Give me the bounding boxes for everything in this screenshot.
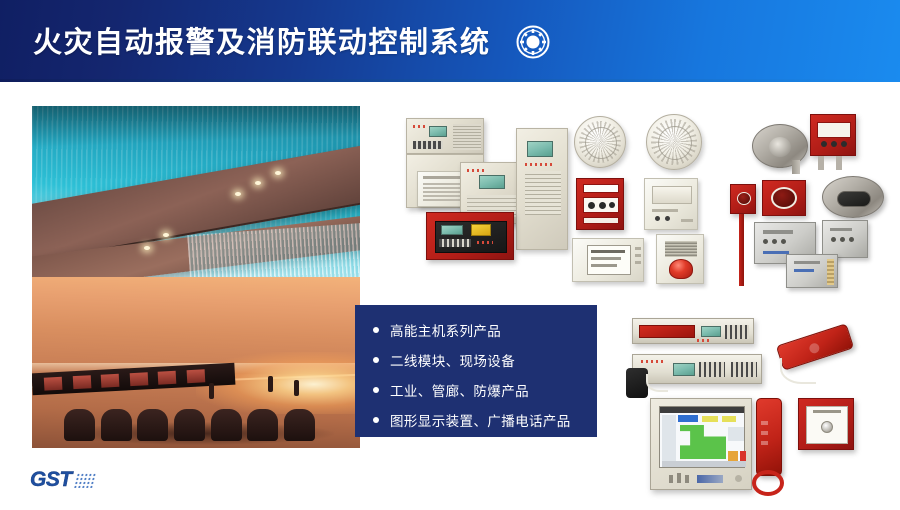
broadcast-rack-unit	[632, 318, 754, 344]
bullet-dot-icon	[373, 327, 379, 333]
red-handset-phone	[756, 398, 782, 476]
product-bullet-panel: 高能主机系列产品 二线模块、现场设备 工业、管廊、防爆产品 图形显示装置、广播电…	[355, 305, 597, 437]
red-manual-station	[762, 180, 806, 216]
smoke-detector	[574, 116, 626, 168]
downlight	[235, 192, 241, 196]
input-output-module	[644, 178, 698, 230]
list-item: 高能主机系列产品	[373, 315, 597, 345]
telephone-cord	[780, 358, 816, 384]
station-pole	[739, 214, 744, 286]
mall-floor-level	[32, 277, 360, 448]
gst-logo-text: GST	[30, 468, 72, 492]
list-item: 工业、管廊、防爆产品	[373, 375, 597, 405]
heat-detector	[646, 114, 702, 170]
cluster-host-panels	[398, 110, 588, 280]
terminal-box	[786, 254, 838, 288]
downlight	[275, 171, 281, 175]
list-item: 图形显示装置、广播电话产品	[373, 405, 597, 435]
mall-interior-photo	[32, 106, 360, 448]
annunciator-module	[572, 238, 644, 282]
red-fire-alarm-panel	[426, 212, 514, 260]
header-bar: 火灾自动报警及消防联动控制系统	[0, 0, 900, 82]
downlight	[144, 246, 150, 250]
bullet-dot-icon	[373, 387, 379, 393]
floor-standing-cabinet	[516, 128, 568, 250]
bullet-label: 二线模块、现场设备	[390, 350, 515, 370]
sounder-strobe	[656, 234, 704, 284]
microphone-cord	[646, 374, 668, 392]
terminal-brand-mark	[697, 475, 723, 483]
floor-sculpture-group	[58, 397, 340, 441]
shopper-figure	[268, 376, 273, 392]
bullet-dot-icon	[373, 357, 379, 363]
explosion-proof-call-point	[810, 114, 856, 156]
linear-heat-pull-station	[730, 184, 756, 214]
explosion-proof-flame-detector	[822, 176, 884, 218]
manual-call-point	[576, 178, 624, 230]
graphic-display-terminal	[650, 398, 752, 490]
terminal-screen	[659, 406, 745, 468]
handset-cradle	[752, 470, 784, 496]
bullet-label: 工业、管廊、防爆产品	[390, 380, 529, 400]
junction-box-small	[822, 220, 868, 258]
strobe-lens	[669, 259, 693, 279]
telephone-jack-station	[798, 398, 854, 450]
slide-root: 火灾自动报警及消防联动控制系统	[0, 0, 900, 510]
page-title: 火灾自动报警及消防联动控制系统	[33, 19, 491, 61]
bullet-label: 高能主机系列产品	[390, 320, 501, 340]
wall-mount-control-panel	[406, 118, 484, 154]
cluster-display-broadcast-telephone	[630, 318, 900, 503]
cluster-field-devices	[568, 112, 738, 280]
rack-microphone	[626, 368, 648, 398]
cluster-industrial-explosion-proof	[736, 108, 900, 288]
gst-logo-dots-icon	[73, 473, 97, 488]
gst-logo: GST	[30, 468, 95, 492]
bullet-dot-icon	[373, 417, 379, 423]
list-item: 二线模块、现场设备	[373, 345, 597, 375]
smoke-detector-icon	[516, 25, 550, 59]
downlight	[163, 233, 169, 237]
bullet-label: 图形显示装置、广播电话产品	[390, 410, 571, 430]
conduit-stub	[792, 160, 800, 174]
shopper-figure	[294, 380, 299, 396]
